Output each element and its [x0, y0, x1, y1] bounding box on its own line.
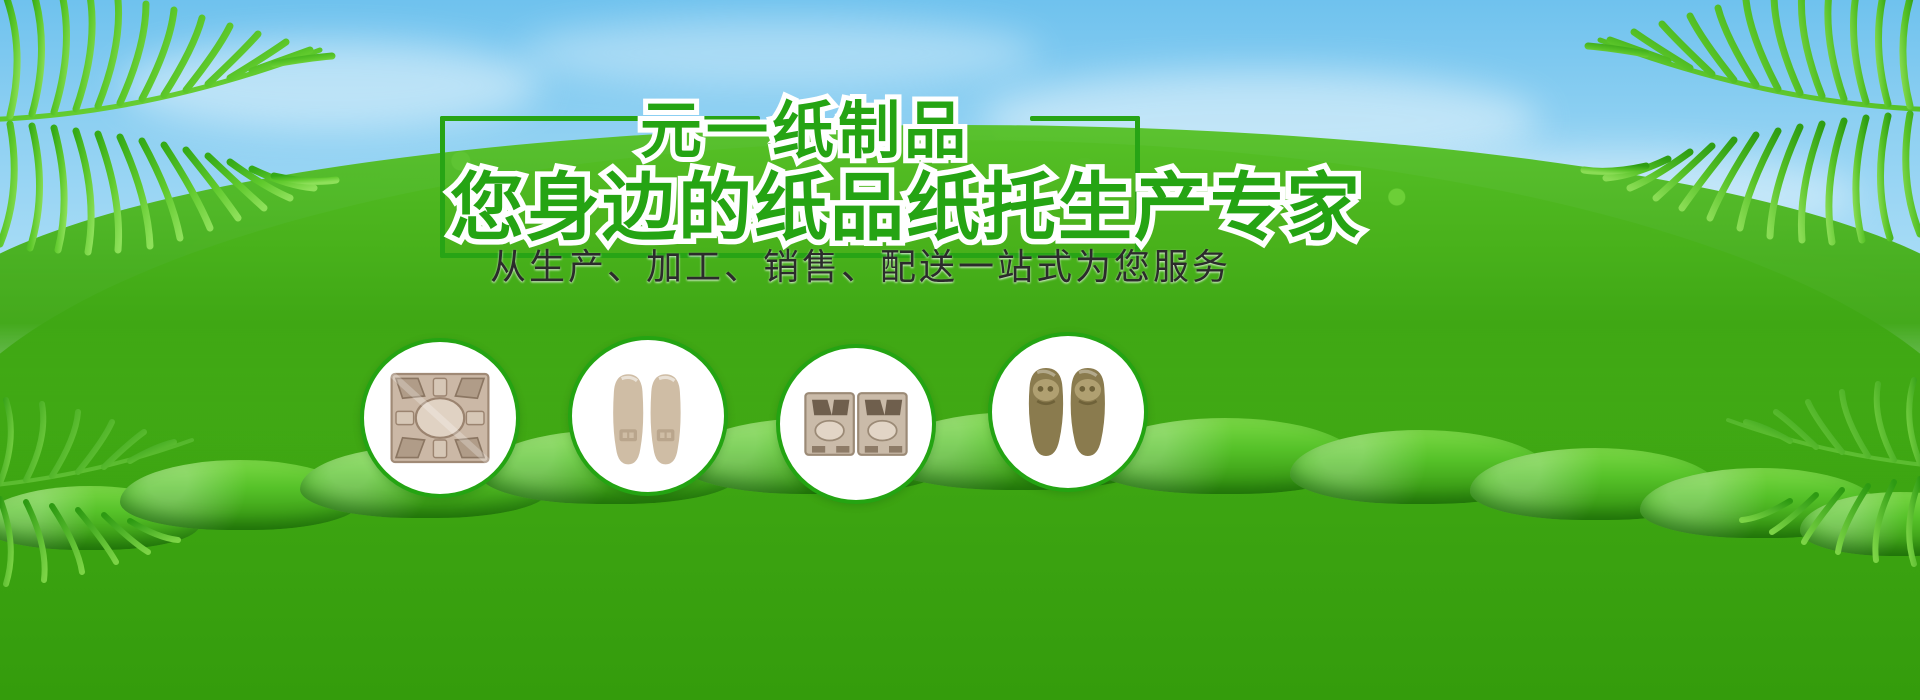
headline-block: 元一纸制品 您身边的纸品纸托生产专家	[440, 88, 1140, 228]
promo-banner: 元一纸制品 您身边的纸品纸托生产专家 从生产、加工、销售、配送一站式为您服务	[0, 0, 1920, 700]
paper-pulp-shoe-tree-pair-icon	[593, 361, 703, 471]
cloud	[520, 18, 1040, 88]
product-circle-1[interactable]	[360, 338, 520, 498]
palm-frond-left	[0, 0, 380, 270]
product-circle-3[interactable]	[776, 344, 936, 504]
headline-subtitle: 从生产、加工、销售、配送一站式为您服务	[490, 238, 1231, 290]
product-showcase: 纸托模具 纸浆鞋撑 纸托护角 纸浆鞋托	[0, 340, 1920, 700]
molded-pulp-corner-pair-icon	[801, 369, 911, 479]
paper-pulp-shoe-insert-pair-icon	[1013, 357, 1123, 467]
palm-frond-right	[1540, 0, 1920, 260]
product-circle-4[interactable]	[988, 332, 1148, 492]
molded-pulp-tray-square-icon	[385, 363, 495, 473]
product-circle-2[interactable]	[568, 336, 728, 496]
frame-line-top-right	[1030, 116, 1140, 121]
frame-line-left	[440, 116, 445, 258]
